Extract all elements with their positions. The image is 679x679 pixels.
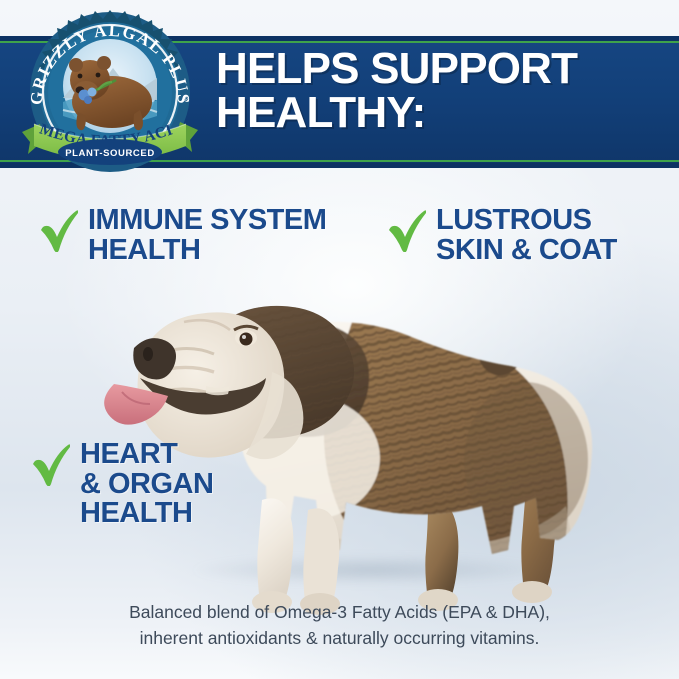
benefit-item-heart-organ: HEART & ORGAN HEALTH — [30, 440, 213, 529]
product-infographic: HELPS SUPPORT HEALTHY: — [0, 0, 679, 679]
badge-registered-mark: ® — [184, 96, 190, 104]
benefit-heart-line-1: HEART — [80, 440, 213, 470]
badge-sub-ribbon-text: PLANT-SOURCED — [65, 148, 155, 159]
benefit-label-skin-coat: LUSTROUS SKIN & COAT — [436, 206, 617, 265]
benefit-immune-line-1: IMMUNE SYSTEM — [88, 206, 326, 236]
footer-description: Balanced blend of Omega-3 Fatty Acids (E… — [0, 600, 679, 651]
badge-sub-ribbon: PLANT-SOURCED — [58, 139, 162, 165]
benefit-item-immune: IMMUNE SYSTEM HEALTH — [38, 206, 326, 265]
brand-logo-badge: GRIZZLY ALGAL PLUS ® OMEGA FATTY ACIDS P… — [16, 6, 204, 178]
green-checkmark-icon — [30, 442, 70, 486]
green-checkmark-icon — [38, 208, 78, 252]
benefit-label-immune: IMMUNE SYSTEM HEALTH — [88, 206, 326, 265]
benefit-skin-line-2: SKIN & COAT — [436, 236, 617, 266]
benefit-skin-line-1: LUSTROUS — [436, 206, 617, 236]
footer-line-2: inherent antioxidants & naturally occurr… — [0, 626, 679, 651]
green-checkmark-icon — [386, 208, 426, 252]
page-title: HELPS SUPPORT HEALTHY: — [216, 47, 666, 134]
benefit-item-skin-coat: LUSTROUS SKIN & COAT — [386, 206, 617, 265]
footer-line-1: Balanced blend of Omega-3 Fatty Acids (E… — [0, 600, 679, 625]
bulldog-photo — [56, 252, 656, 620]
benefit-heart-line-2: & ORGAN — [80, 470, 213, 500]
benefit-heart-line-3: HEALTH — [80, 499, 213, 529]
benefit-immune-line-2: HEALTH — [88, 236, 326, 266]
benefit-label-heart-organ: HEART & ORGAN HEALTH — [80, 440, 213, 529]
headline-line-2: HEALTHY: — [216, 91, 666, 135]
headline-line-1: HELPS SUPPORT — [216, 44, 577, 93]
